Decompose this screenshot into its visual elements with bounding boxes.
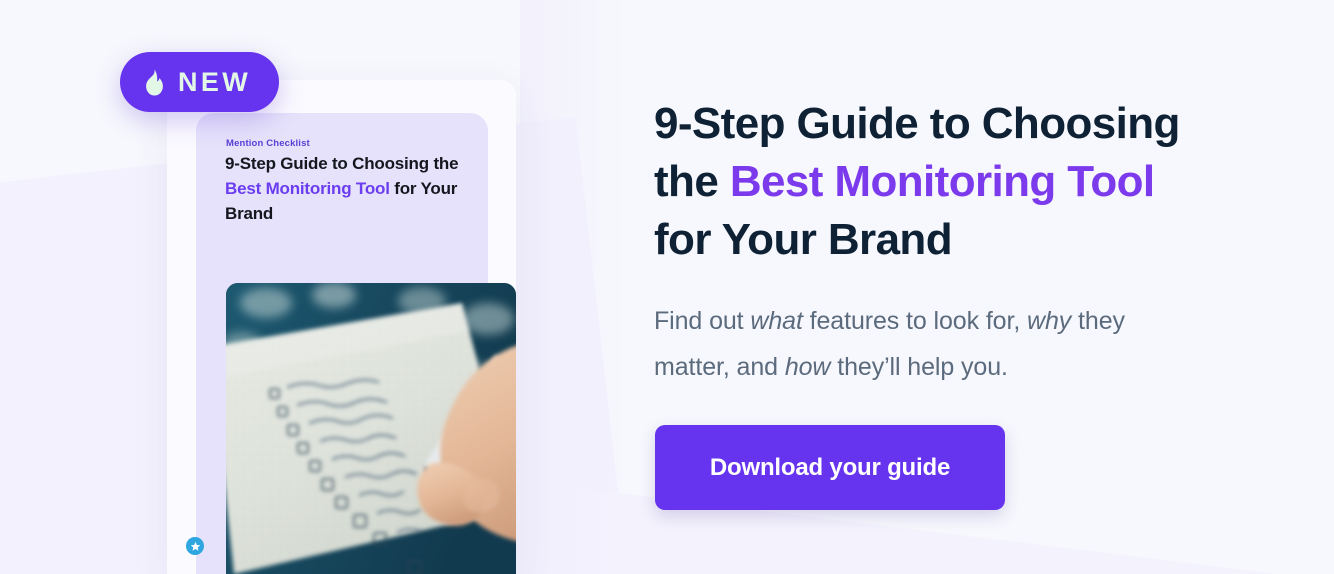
- card-title: 9-Step Guide to Choosing the Best Monito…: [225, 151, 465, 226]
- subhead-segment4: they’ll help you.: [830, 353, 1007, 381]
- flame-icon: [142, 69, 164, 96]
- download-guide-button[interactable]: Download your guide: [655, 425, 1005, 510]
- card-title-highlight: Best Monitoring Tool: [225, 179, 390, 198]
- subheadline: Find out what features to look for, why …: [654, 298, 1194, 390]
- subhead-segment1: Find out: [654, 307, 750, 335]
- checklist-photo: [226, 283, 516, 574]
- subhead-italic-why: why: [1027, 307, 1071, 335]
- promo-content: 9-Step Guide to Choosing the Best Monito…: [654, 0, 1274, 574]
- card-title-part1: 9-Step Guide to Choosing the: [225, 154, 458, 173]
- promo-visual: Mention Checklist 9-Step Guide to Choosi…: [0, 0, 620, 574]
- new-badge: NEW: [120, 52, 279, 112]
- promo-banner: Mention Checklist 9-Step Guide to Choosi…: [0, 0, 1334, 574]
- subhead-segment2: features to look for,: [803, 307, 1027, 335]
- page-title: 9-Step Guide to Choosing the Best Monito…: [654, 95, 1194, 269]
- card-eyebrow-label: Mention Checklist: [226, 138, 310, 149]
- star-icon: [190, 541, 201, 552]
- headline-highlight: Best Monitoring Tool: [730, 157, 1155, 206]
- headline-part2: for Your Brand: [654, 215, 952, 264]
- star-badge: [186, 537, 204, 555]
- subhead-italic-what: what: [750, 307, 802, 335]
- new-badge-label: NEW: [178, 69, 251, 96]
- subhead-italic-how: how: [785, 353, 831, 381]
